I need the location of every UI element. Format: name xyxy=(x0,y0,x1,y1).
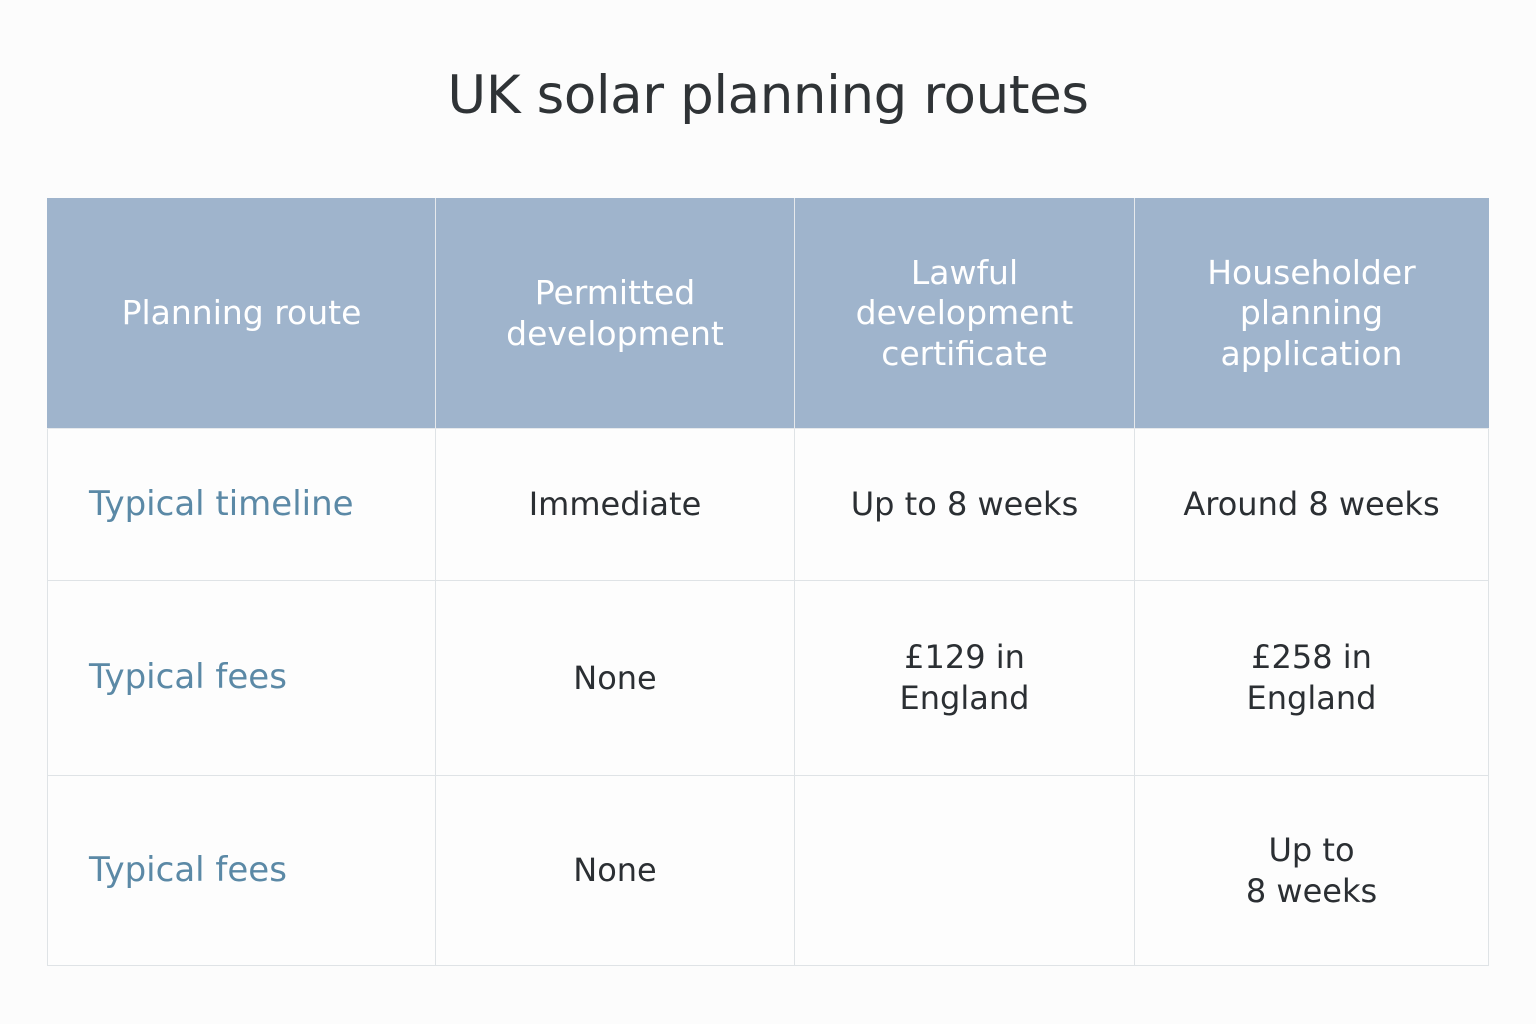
table-header-row: Planning route Permitted development Law… xyxy=(48,199,1489,429)
table-cell: Up to 8 weeks xyxy=(795,429,1135,581)
table-body: Typical timeline Immediate Up to 8 weeks… xyxy=(48,429,1489,966)
table-container: Planning route Permitted development Law… xyxy=(47,198,1488,965)
column-header-line-3: certificate xyxy=(809,334,1120,374)
cell-line-1: Around 8 weeks xyxy=(1149,484,1474,525)
column-header-householder-planning-application: Householder planning application xyxy=(1135,199,1489,429)
cell-line-1: Up to xyxy=(1149,830,1474,871)
row-label-typical-timeline: Typical timeline xyxy=(48,429,436,581)
table-row: Typical timeline Immediate Up to 8 weeks… xyxy=(48,429,1489,581)
table-cell: Immediate xyxy=(436,429,795,581)
table-cell: None xyxy=(436,581,795,776)
table-cell: £129 in England xyxy=(795,581,1135,776)
page-title: UK solar planning routes xyxy=(0,64,1536,128)
cell-line-1: Up to 8 weeks xyxy=(809,484,1120,525)
row-label-typical-fees: Typical fees xyxy=(48,581,436,776)
column-header-line-1: Permitted xyxy=(450,273,780,313)
table-row: Typical fees None Up to 8 weeks xyxy=(48,776,1489,966)
table-header: Planning route Permitted development Law… xyxy=(48,199,1489,429)
column-header-line-1: Householder xyxy=(1149,253,1474,293)
table-cell: None xyxy=(436,776,795,966)
cell-line-1: £129 in xyxy=(809,637,1120,678)
table-cell: Up to 8 weeks xyxy=(1135,776,1489,966)
cell-line-1: None xyxy=(450,850,780,891)
table-cell: £258 in England xyxy=(1135,581,1489,776)
cell-line-1: None xyxy=(450,658,780,699)
cell-line-2: England xyxy=(809,678,1120,719)
cell-line-2: England xyxy=(1149,678,1474,719)
column-header-line-2: development xyxy=(809,293,1120,333)
column-header-planning-route: Planning route xyxy=(48,199,436,429)
row-label-typical-fees: Typical fees xyxy=(48,776,436,966)
column-header-line-2: development xyxy=(450,314,780,354)
planning-routes-table: Planning route Permitted development Law… xyxy=(47,198,1489,966)
cell-line-1: £258 in xyxy=(1149,637,1474,678)
column-header-line-1: Planning route xyxy=(62,293,421,333)
column-header-line-1: Lawful xyxy=(809,253,1120,293)
column-header-line-2: planning xyxy=(1149,293,1474,333)
column-header-line-3: application xyxy=(1149,334,1474,374)
table-row: Typical fees None £129 in England £258 i… xyxy=(48,581,1489,776)
cell-line-1: Immediate xyxy=(450,484,780,525)
column-header-permitted-development: Permitted development xyxy=(436,199,795,429)
table-cell-empty xyxy=(795,776,1135,966)
column-header-lawful-development-certificate: Lawful development certificate xyxy=(795,199,1135,429)
page-root: UK solar planning routes Planning route … xyxy=(0,0,1536,1024)
table-cell: Around 8 weeks xyxy=(1135,429,1489,581)
cell-line-2: 8 weeks xyxy=(1149,871,1474,912)
